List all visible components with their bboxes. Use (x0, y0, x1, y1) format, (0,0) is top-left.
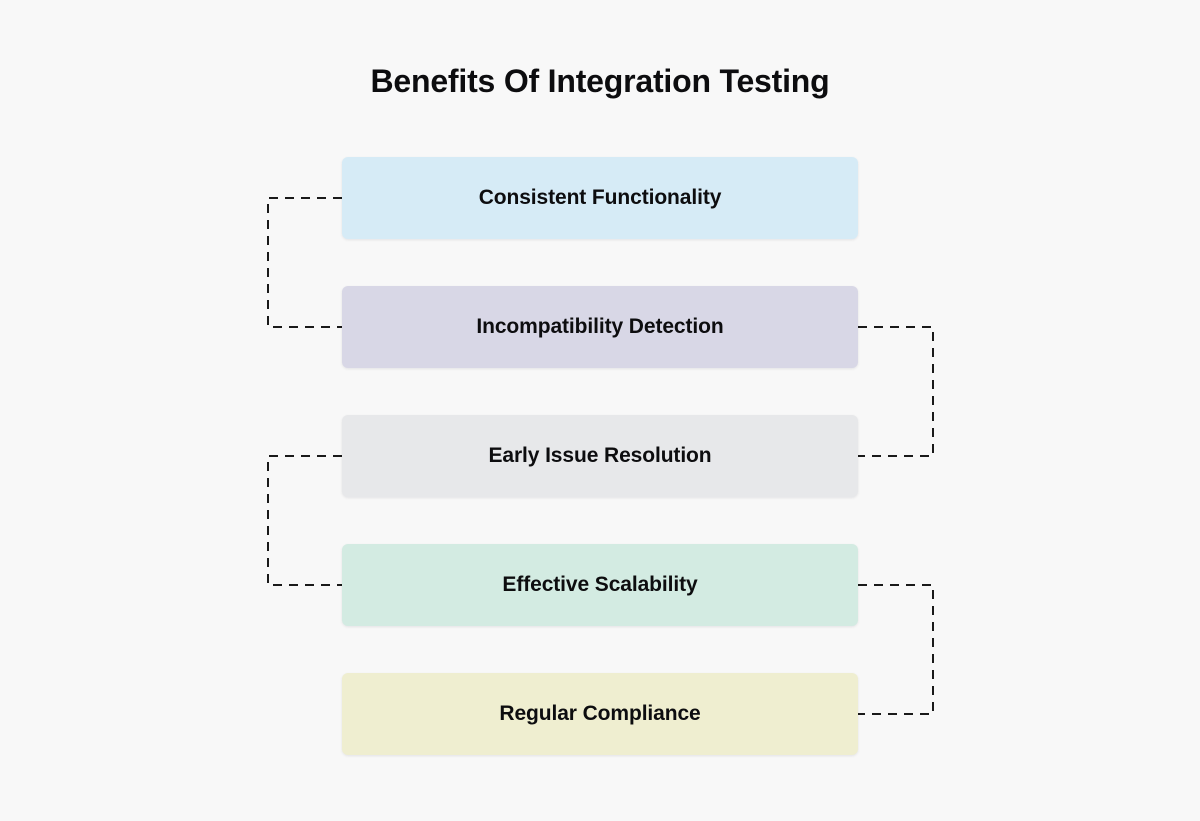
benefit-label: Early Issue Resolution (472, 444, 727, 468)
right-bracket-2-connector (858, 585, 933, 714)
benefit-label: Effective Scalability (486, 573, 713, 597)
benefit-box-consistent-functionality[interactable]: Consistent Functionality (342, 157, 858, 239)
benefit-label: Consistent Functionality (463, 186, 738, 210)
diagram-canvas: Benefits Of Integration Testing Consiste… (0, 0, 1200, 821)
benefit-box-early-issue-resolution[interactable]: Early Issue Resolution (342, 415, 858, 497)
benefit-box-regular-compliance[interactable]: Regular Compliance (342, 673, 858, 755)
benefit-label: Regular Compliance (483, 702, 716, 726)
right-bracket-1-connector (858, 327, 933, 456)
benefit-label: Incompatibility Detection (460, 315, 739, 339)
benefit-box-incompatibility-detection[interactable]: Incompatibility Detection (342, 286, 858, 368)
page-title: Benefits Of Integration Testing (0, 59, 1200, 103)
benefit-box-effective-scalability[interactable]: Effective Scalability (342, 544, 858, 626)
left-bracket-1-connector (268, 198, 342, 327)
left-bracket-2-connector (268, 456, 342, 585)
